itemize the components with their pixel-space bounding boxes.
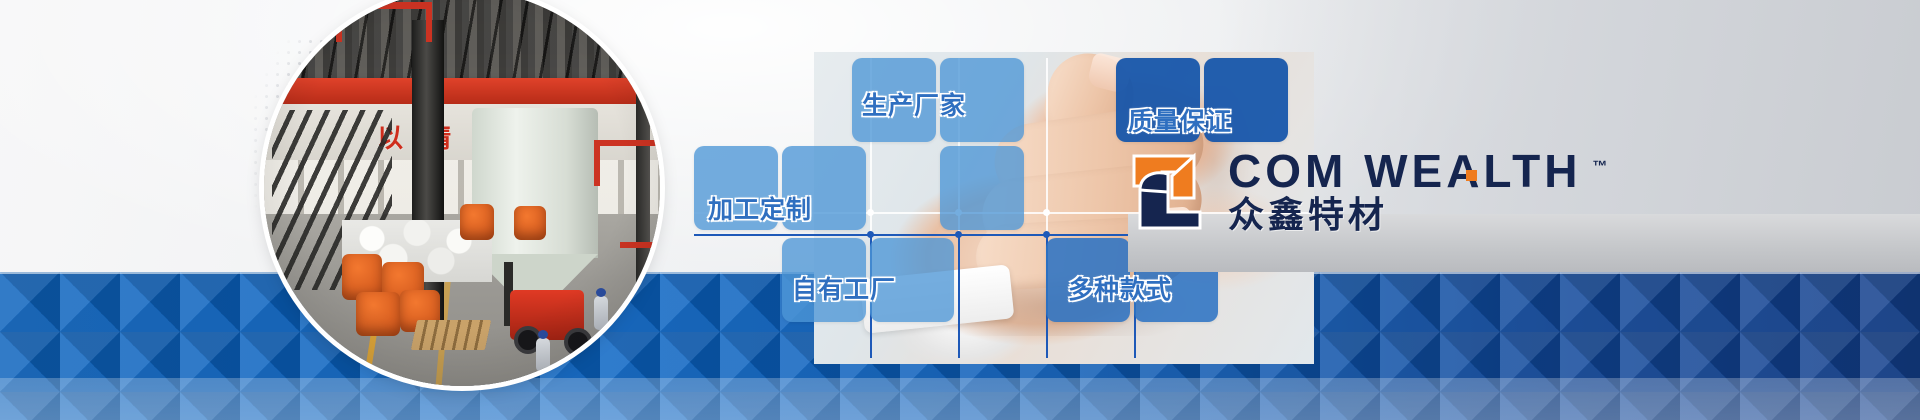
promotional-banner: 以精立业 [0, 0, 1920, 420]
factory-interior-photo: 以精立业 [264, 0, 660, 386]
trademark-symbol: ™ [1592, 144, 1607, 190]
tile-label-quality: 质量保证 [1128, 102, 1232, 138]
tile-row2-mid[interactable] [940, 146, 1024, 230]
z-monogram-icon [1128, 152, 1214, 232]
tile-label-own-factory: 自有工厂 [792, 270, 896, 306]
tile-label-many-styles: 多种款式 [1068, 270, 1172, 306]
logo-orange-accent [1466, 170, 1477, 181]
logo-english-label: COM WEALTH [1228, 145, 1581, 197]
com-wealth-logo[interactable]: COM WEALTH ™ 众鑫特材 [1128, 146, 1581, 238]
tile-label-manufacturer: 生产厂家 [862, 86, 966, 122]
logo-english-text: COM WEALTH ™ [1228, 148, 1581, 194]
tile-label-custom: 加工定制 [708, 190, 812, 226]
logo-chinese-label: 众鑫特材 [1228, 196, 1581, 236]
